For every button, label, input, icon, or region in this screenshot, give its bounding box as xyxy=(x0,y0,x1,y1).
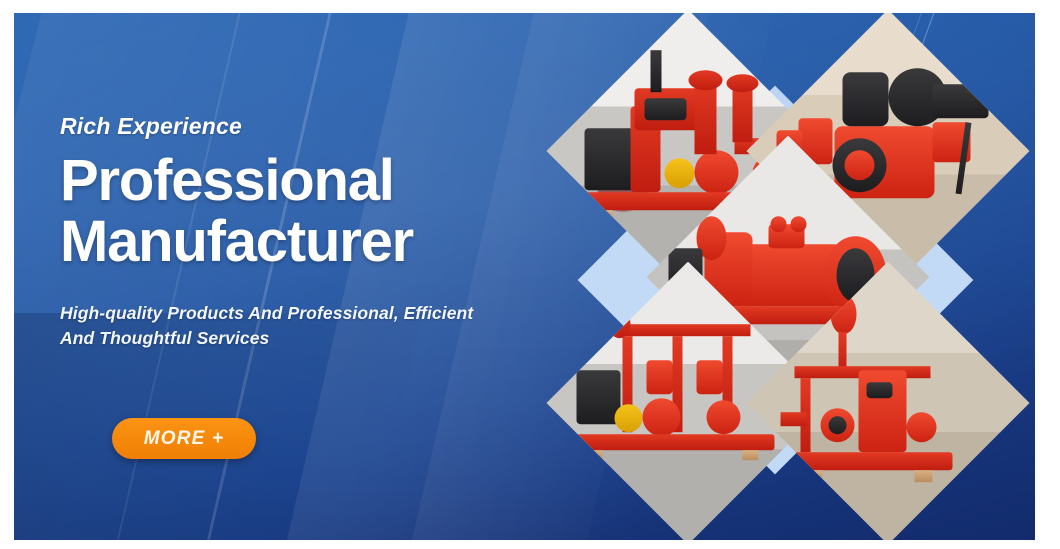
product-photo-grid xyxy=(541,13,1035,540)
subcopy-line-1: High-quality Products And Professional, … xyxy=(60,303,473,323)
more-button[interactable]: MORE + xyxy=(112,418,256,459)
hero-subcopy: High-quality Products And Professional, … xyxy=(60,301,530,351)
subcopy-line-2: And Thoughtful Services xyxy=(60,328,269,348)
page-title: Professional Manufacturer xyxy=(60,150,530,273)
eyebrow-text: Rich Experience xyxy=(60,113,530,140)
hero-copy-block: Rich Experience Professional Manufacture… xyxy=(60,113,530,351)
headline-line-1: Professional xyxy=(60,148,394,213)
headline-line-2: Manufacturer xyxy=(60,211,530,272)
hero-banner: Rich Experience Professional Manufacture… xyxy=(14,13,1035,540)
